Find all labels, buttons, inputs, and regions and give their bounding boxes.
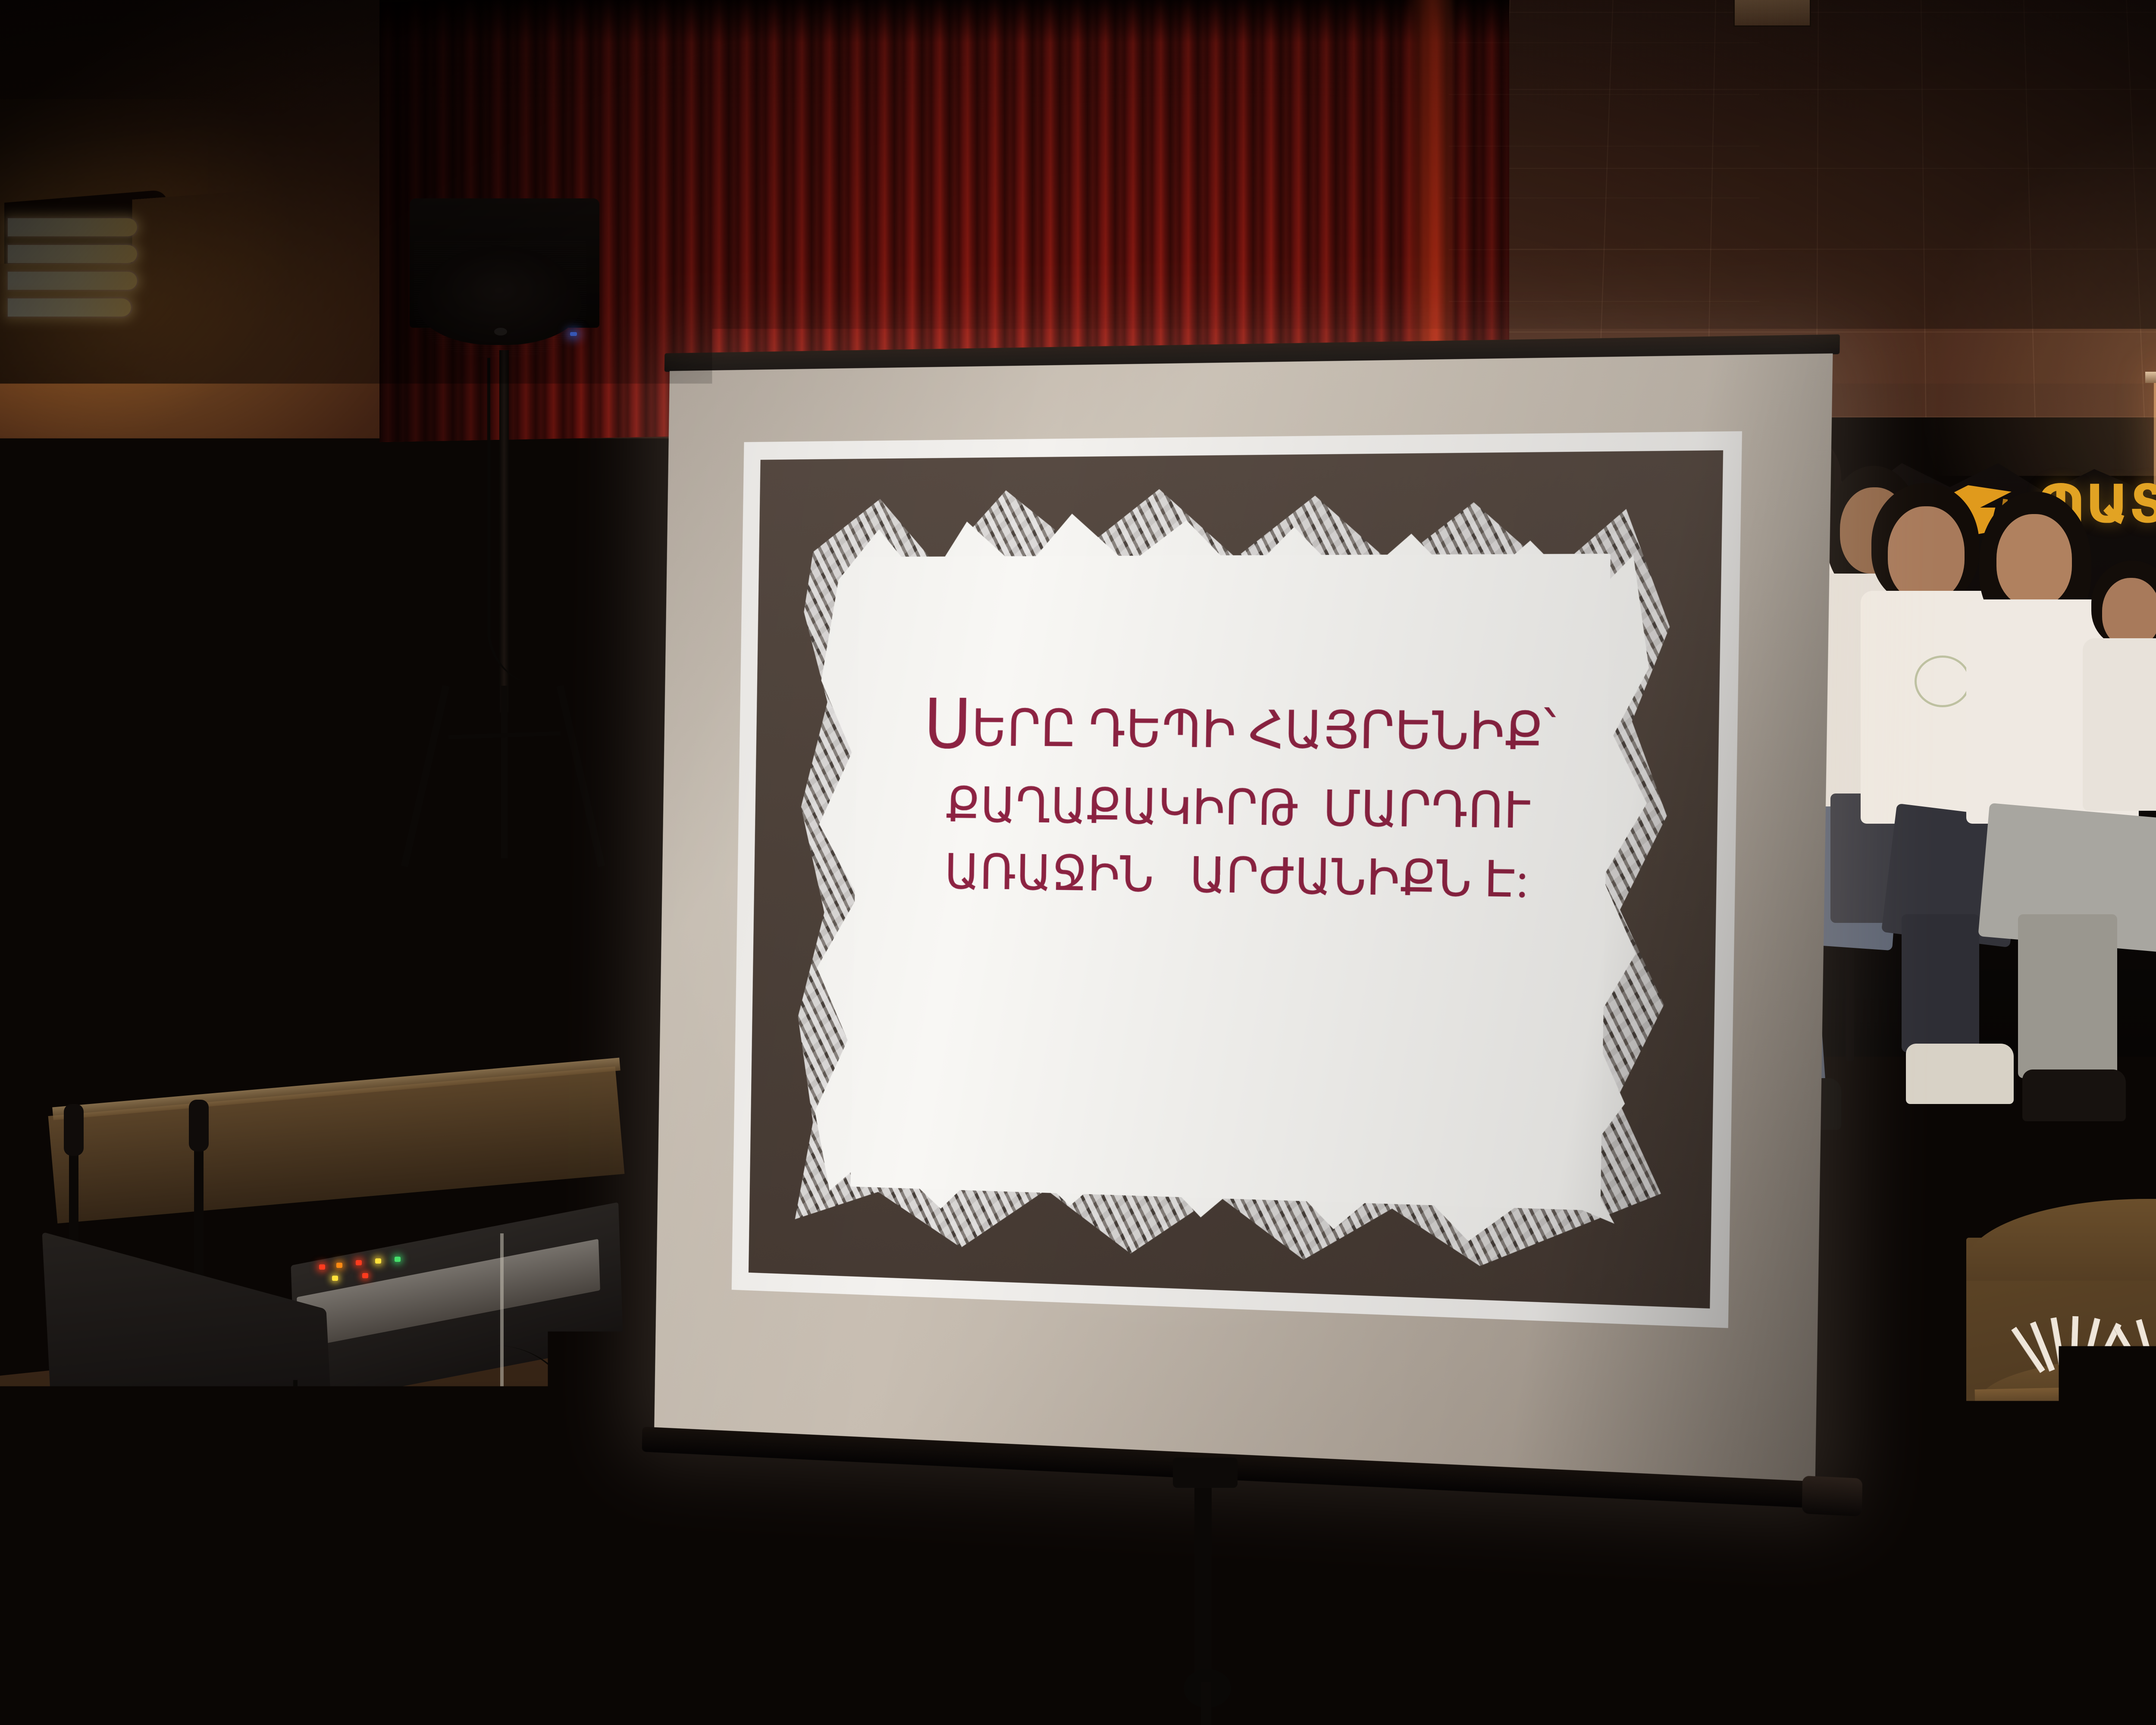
curtain-top-shadow — [379, 0, 1509, 43]
screen-canvas: ՍԵՐԸ ԴԵՊԻ ՀԱՅՐԵՆԻՔ՝ ՔԱՂԱՔԱԿԻՐԹ ՄԱՐԴՈՒ ԱՌ… — [654, 354, 1833, 1483]
wall-sconce-lamp — [4, 203, 155, 345]
av-control-desk — [0, 1104, 604, 1725]
presentation-slide: ՍԵՐԸ ԴԵՊԻ ՀԱՅՐԵՆԻՔ՝ ՔԱՂԱՔԱԿԻՐԹ ՄԱՐԴՈՒ ԱՌ… — [732, 431, 1742, 1328]
mixer-led — [362, 1273, 368, 1278]
screen-tripod-collar — [1173, 1458, 1238, 1488]
speaker-tripod-leg — [401, 685, 449, 867]
speaker-tripod-leg — [556, 685, 605, 867]
ceiling-light-glow — [1885, 60, 2156, 476]
blinds-headrail — [2145, 372, 2156, 383]
shoe — [2022, 1069, 2126, 1121]
torso-tshirt — [2083, 638, 2156, 811]
slide-dropcap: Ս — [923, 687, 972, 763]
mixer-led — [336, 1263, 342, 1268]
speaker-brand-logo — [494, 328, 507, 336]
cart-top-panel — [1966, 1199, 2156, 1281]
list-item — [2139, 1311, 2156, 1376]
slide-line-1: ՍԵՐԸ ԴԵՊԻ ՀԱՅՐԵՆԻՔ՝ — [857, 680, 1629, 775]
head — [2102, 578, 2156, 647]
slide-line-1-rest: ԵՐԸ ԴԵՊԻ ՀԱՅՐԵՆԻՔ՝ — [971, 700, 1556, 760]
screen-tripod-leg — [1201, 1682, 1211, 1725]
sconce-slat — [8, 218, 137, 236]
head — [1996, 514, 2072, 607]
cart-caster-wheel — [1990, 1686, 2015, 1711]
projection-screen: ՍԵՐԸ ԴԵՊԻ ՀԱՅՐԵՆԻՔ՝ ՔԱՂԱՔԱԿԻՐԹ ՄԱՐԴՈՒ ԱՌ… — [654, 354, 1833, 1483]
mixer-led — [395, 1257, 401, 1262]
display-cart — [1949, 1182, 2156, 1725]
mic-stand-head — [64, 1104, 84, 1156]
sconce-slat — [8, 272, 137, 290]
tshirt-logo — [1915, 655, 1971, 707]
sconce-slat — [8, 245, 137, 263]
mixer-led — [319, 1264, 325, 1270]
mixer-led — [375, 1258, 381, 1264]
speaker-cable — [487, 358, 543, 686]
head — [1888, 506, 1965, 601]
slide-line-3: ԱՌԱՋԻՆ ԱՐԺԱՆԻՔՆ Է: — [855, 840, 1626, 914]
speaker-power-led — [570, 332, 577, 336]
slide-quote: ՍԵՐԸ ԴԵՊԻ ՀԱՅՐԵՆԻՔ՝ ՔԱՂԱՔԱԿԻՐԹ ՄԱՐԴՈՒ ԱՌ… — [855, 680, 1628, 914]
photo-scene: ՊԱՏԱՍԽԱՆԱՏՈՒ ԱՅՍՕՐԸ — [0, 0, 2156, 1725]
pa-speaker-assembly — [401, 198, 642, 845]
slide-line-2: ՔԱՂԱՔԱԿԻՐԹ ՄԱՐԴՈՒ — [856, 773, 1627, 845]
mic-stand-head — [189, 1100, 209, 1151]
mixer-led — [332, 1276, 338, 1281]
av-cable — [500, 1233, 526, 1440]
speaker-tripod-leg — [501, 686, 508, 858]
mixer-led — [356, 1260, 362, 1265]
screen-tripod-pole — [1194, 1479, 1212, 1686]
screen-bar-endcap — [1802, 1476, 1862, 1517]
slide-background: ՍԵՐԸ ԴԵՊԻ ՀԱՅՐԵՆԻՔ՝ ՔԱՂԱՔԱԿԻՐԹ ՄԱՐԴՈՒ ԱՌ… — [749, 450, 1723, 1308]
sconce-backplate — [4, 189, 167, 345]
list-item — [2083, 561, 2156, 949]
sconce-slat — [8, 298, 131, 317]
